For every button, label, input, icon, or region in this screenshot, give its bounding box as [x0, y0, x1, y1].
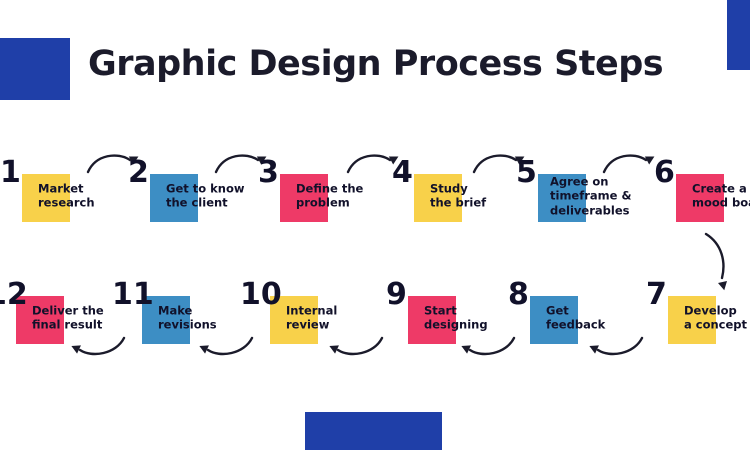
- step-9-label-line: Start: [424, 304, 488, 318]
- step-4-label-line: Study: [430, 182, 486, 196]
- step-12-number: 12: [0, 280, 28, 310]
- step-7-label-line: a concept: [684, 318, 747, 332]
- step-5-number: 5: [516, 158, 537, 188]
- step-8-label-line: Get: [546, 304, 605, 318]
- arrow-step-8-from-7: [590, 336, 646, 362]
- step-10-label-line: Internal: [286, 304, 337, 318]
- step-1-label-line: Market: [38, 182, 95, 196]
- step-11-number: 11: [112, 280, 154, 310]
- step-6-number: 6: [654, 158, 675, 188]
- arrow-step-10-from-9: [330, 336, 386, 362]
- step-3-number: 3: [258, 158, 279, 188]
- step-5-label-line: Agree on: [550, 174, 631, 188]
- step-8-label: Getfeedback: [546, 304, 605, 333]
- step-10-number: 10: [240, 280, 282, 310]
- page-title: Graphic Design Process Steps: [88, 44, 708, 84]
- step-7-label-line: Develop: [684, 304, 747, 318]
- step-4-label-line: the brief: [430, 196, 486, 210]
- step-10-label-line: review: [286, 318, 337, 332]
- step-9-label: Startdesigning: [424, 304, 488, 333]
- step-12-label: Deliver thefinal result: [32, 304, 104, 333]
- step-8-number: 8: [508, 280, 529, 310]
- step-1-number: 1: [0, 158, 21, 188]
- step-4-label: Studythe brief: [430, 182, 486, 211]
- step-6-label-line: mood board: [692, 196, 750, 210]
- step-11-label: Makerevisions: [158, 304, 217, 333]
- step-6-label-line: Create a: [692, 182, 750, 196]
- step-3-label-line: problem: [296, 196, 363, 210]
- step-7-label: Developa concept: [684, 304, 747, 333]
- arrow-step-11-from-10: [200, 336, 256, 362]
- step-2-label-line: Get to know: [166, 182, 245, 196]
- arrow-step-6-to-7: [700, 232, 740, 290]
- step-2-number: 2: [128, 158, 149, 188]
- step-8-label-line: feedback: [546, 318, 605, 332]
- step-1-label: Marketresearch: [38, 182, 95, 211]
- arrow-step-12-from-11: [72, 336, 128, 362]
- step-5-label: Agree ontimeframe &deliverables: [550, 174, 631, 217]
- step-6-label: Create amood board: [692, 182, 750, 211]
- step-11-label-line: revisions: [158, 318, 217, 332]
- step-9-label-line: designing: [424, 318, 488, 332]
- step-12-label-line: Deliver the: [32, 304, 104, 318]
- step-3-label-line: Define the: [296, 182, 363, 196]
- bottom-blue-block: [305, 412, 442, 450]
- step-7-number: 7: [646, 280, 667, 310]
- step-2-label-line: the client: [166, 196, 245, 210]
- top-right-blue-block: [727, 0, 750, 70]
- step-4-number: 4: [392, 158, 413, 188]
- step-2-label: Get to knowthe client: [166, 182, 245, 211]
- step-10-label: Internalreview: [286, 304, 337, 333]
- step-3-label: Define theproblem: [296, 182, 363, 211]
- step-12-label-line: final result: [32, 318, 104, 332]
- step-9-number: 9: [386, 280, 407, 310]
- step-11-label-line: Make: [158, 304, 217, 318]
- step-5-label-line: timeframe &: [550, 189, 631, 203]
- step-5-label-line: deliverables: [550, 203, 631, 217]
- top-left-blue-block: [0, 38, 70, 100]
- infographic-canvas: Graphic Design Process Steps 1Marketrese…: [0, 0, 750, 450]
- arrow-step-9-from-8: [462, 336, 518, 362]
- step-1-label-line: research: [38, 196, 95, 210]
